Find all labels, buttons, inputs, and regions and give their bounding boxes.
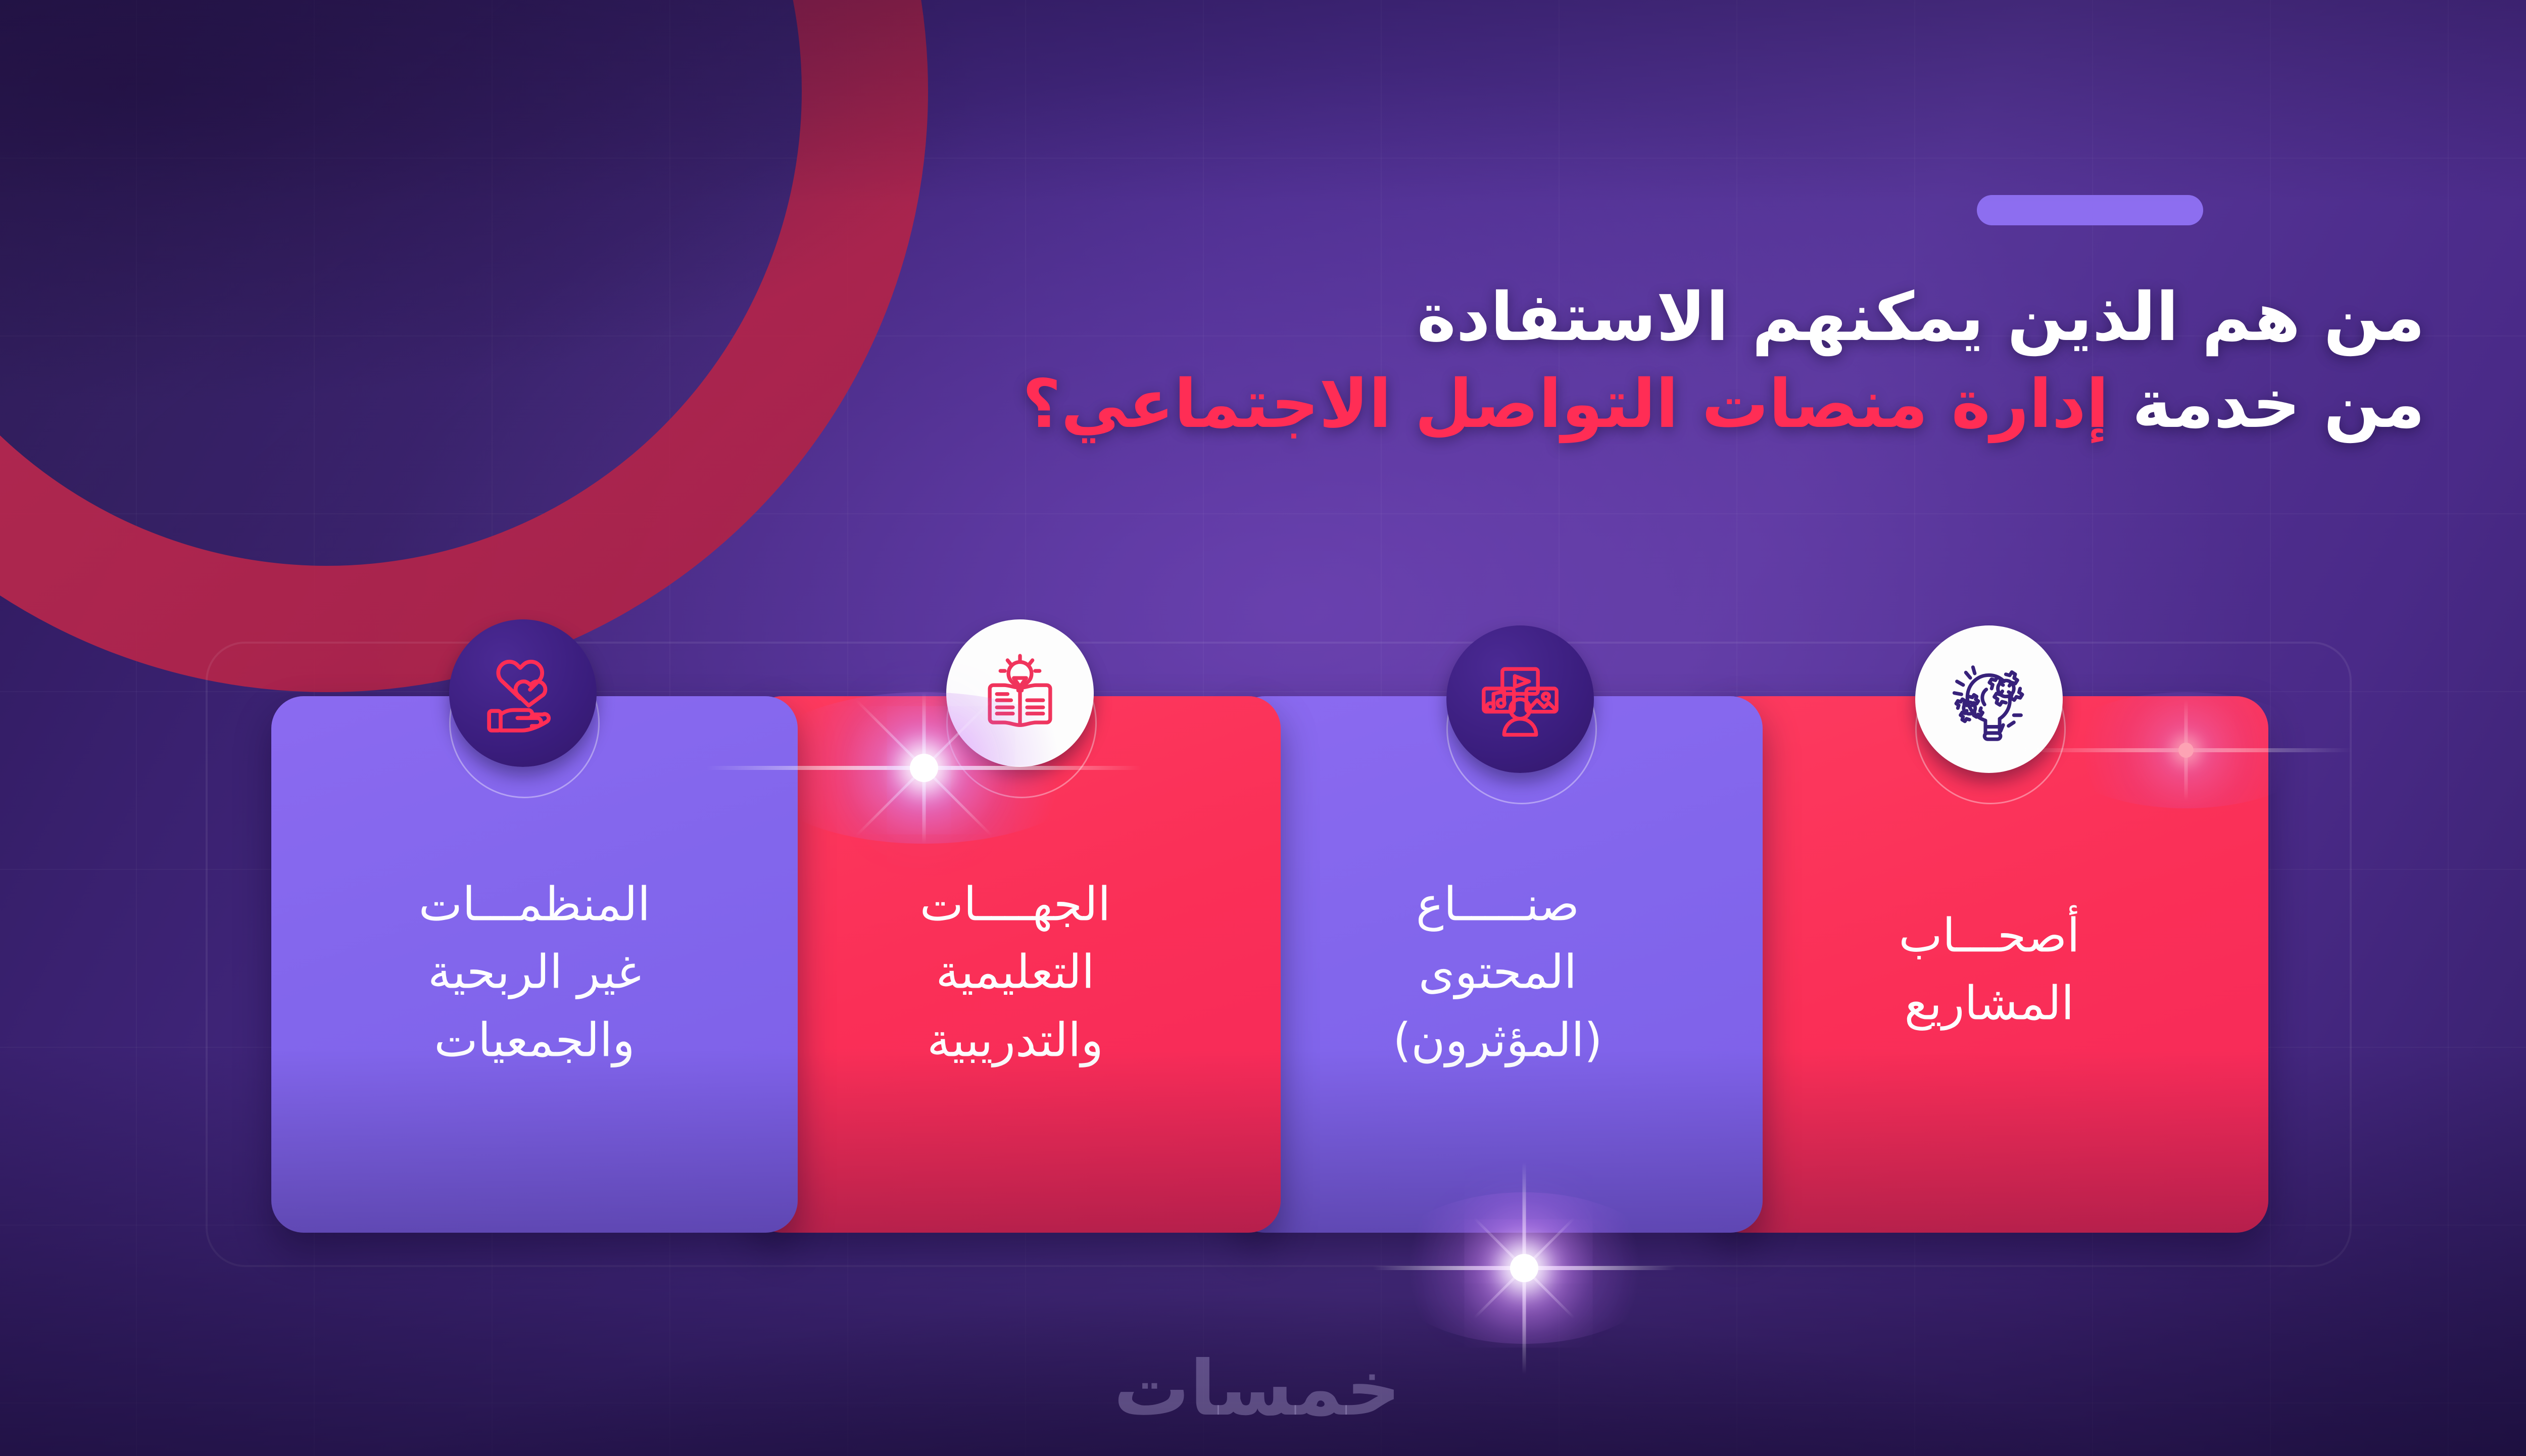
card-label-content-creators: صنـــــاع المحتوى (المؤثرون): [1233, 871, 1763, 1075]
heart-in-hand-icon: [478, 649, 567, 738]
badge-entrepreneurs: [1915, 625, 2063, 773]
lightbulb-gears-icon: [1945, 655, 2033, 744]
card-label-nonprofits: المنظمـــات غير الربحية والجمعيات: [271, 871, 798, 1075]
watermark-khamsat: خمسات: [0, 1345, 2526, 1433]
infographic-canvas: من هم الذين يمكنهم الاستفادة من خدمة إدا…: [0, 0, 2526, 1456]
badge-nonprofits: [449, 619, 597, 767]
open-book-lightbulb-icon: [976, 649, 1064, 738]
badge-content-creators: [1446, 625, 1594, 773]
card-label-educational-entities: الجهــــات التعليمية والتدريبية: [750, 871, 1281, 1075]
cards-row: أصحـــاب المشاريع: [0, 0, 2526, 1456]
badge-educational-entities: [946, 619, 1094, 767]
content-creator-media-icon: [1476, 655, 1565, 744]
card-label-entrepreneurs: أصحـــاب المشاريع: [1710, 902, 2268, 1038]
